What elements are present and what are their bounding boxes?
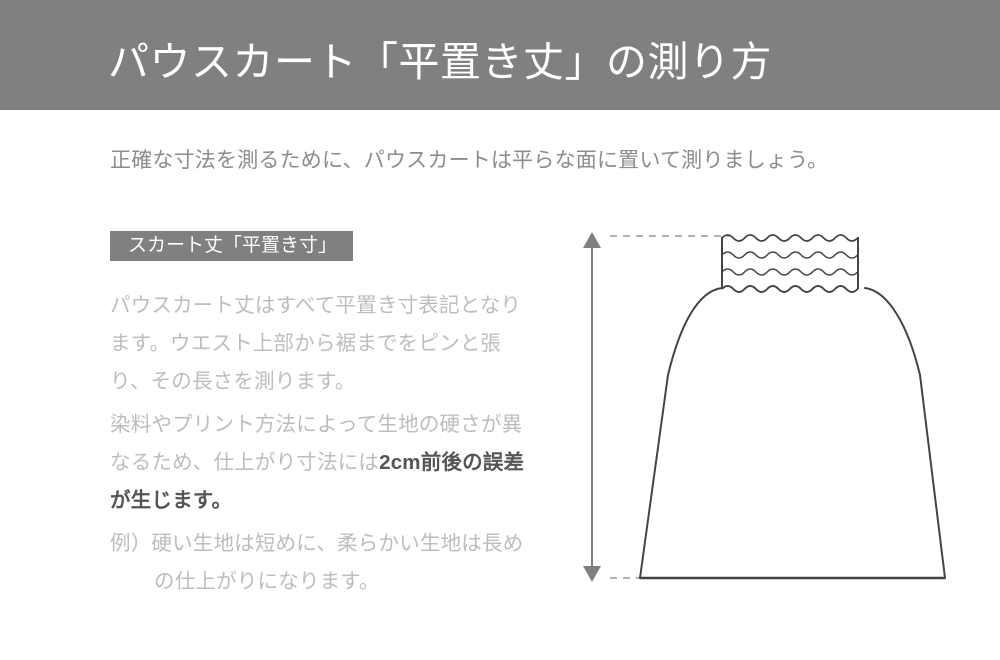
- skirt-diagram-svg: [570, 215, 990, 605]
- measure-arrow-head-down: [583, 566, 601, 582]
- measure-arrow-head-up: [583, 232, 601, 248]
- page-title: パウスカート「平置き丈」の測り方: [108, 36, 772, 88]
- page-root: パウスカート「平置き丈」の測り方 正確な寸法を測るために、パウスカートは平らな面…: [0, 0, 1000, 660]
- waistband-shirring-row-2: [722, 252, 858, 258]
- skirt-diagram: [570, 215, 990, 605]
- waistband-shirring-row-1: [722, 235, 858, 241]
- skirt-body-outline: [640, 288, 945, 578]
- paragraph-skirt-length: パウスカート丈はすべて平置き寸表記となります。ウエスト上部から裾までをピンと張り…: [110, 287, 530, 401]
- waistband: [722, 235, 858, 292]
- header-band: パウスカート「平置き丈」の測り方: [0, 0, 1000, 110]
- intro-text: 正確な寸法を測るために、パウスカートは平らな面に置いて測りましょう。: [110, 145, 828, 177]
- paragraph-tolerance: 染料やプリント方法によって生地の硬さが異なるため、仕上がり寸法には2cm前後の誤…: [110, 406, 530, 520]
- paragraph-example-marker: 例）: [110, 532, 151, 555]
- paragraph-example-text: 硬い生地は短めに、柔らかい生地は長めの仕上がりになります。: [151, 532, 523, 593]
- section-badge: スカート丈「平置き寸」: [110, 231, 353, 261]
- measure-arrow: [583, 232, 601, 582]
- paragraph-example: 例）硬い生地は短めに、柔らかい生地は長めの仕上がりになります。: [110, 525, 530, 601]
- waistband-shirring-row-3: [722, 269, 858, 275]
